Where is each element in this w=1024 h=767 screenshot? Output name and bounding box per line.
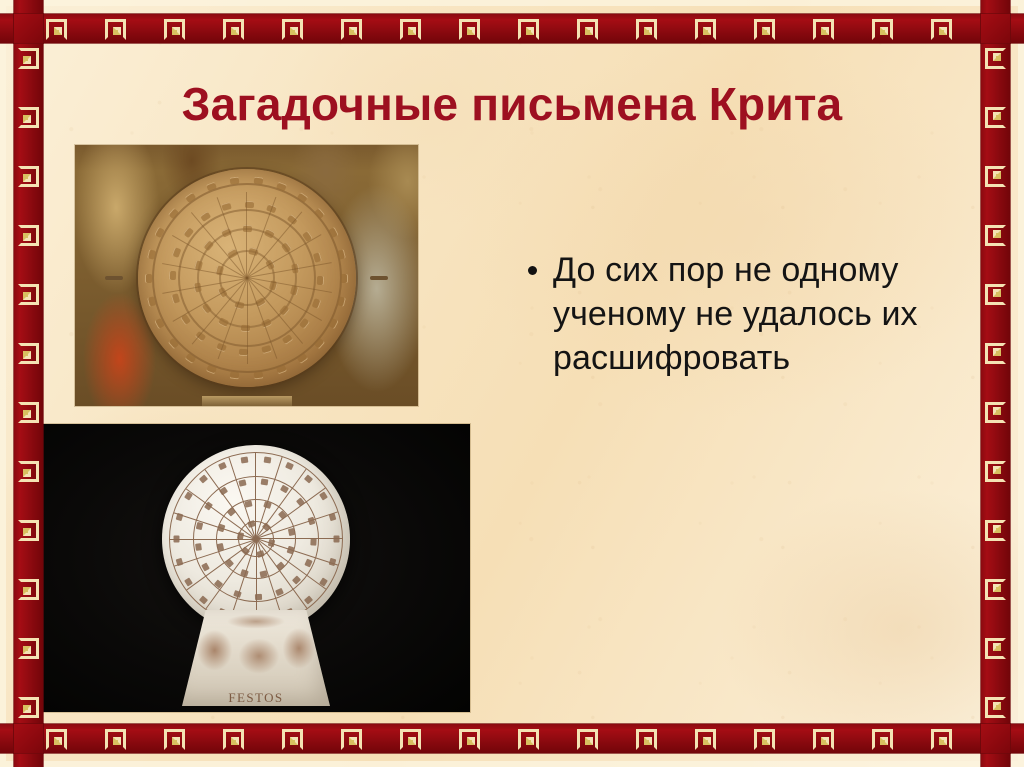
disc-glyph: [168, 337, 179, 348]
disc-glyph: [185, 192, 196, 203]
disc-glyph: [155, 227, 165, 238]
meander-key-icon: [18, 579, 39, 600]
bullet-marker-icon: [528, 266, 537, 275]
disc-divider-line: [247, 277, 322, 321]
disc-glyph: [337, 296, 346, 306]
meander-key-icon: [813, 729, 834, 750]
disc-glyph: [317, 276, 324, 285]
disc-glyph: [296, 353, 307, 364]
border-band-left: [14, 0, 43, 767]
phaistos-disc-museum-photo: [75, 145, 418, 406]
disc-glyph: [203, 240, 214, 251]
disc-glyph: [276, 182, 287, 192]
meander-key-icon: [282, 729, 303, 750]
disc-glyph: [269, 280, 278, 291]
disc-glyph: [147, 296, 156, 306]
meander-key-icon: [18, 461, 39, 482]
disc-mount-pin-left: [105, 276, 123, 280]
disc-glyph: [168, 207, 179, 218]
disc-divider-line: [246, 197, 276, 278]
disc-glyph: [155, 318, 165, 329]
meander-key-icon: [985, 107, 1006, 128]
disc-display-stand: [202, 396, 292, 406]
replica-glyph: [311, 538, 317, 545]
meander-key-icon: [164, 19, 185, 40]
meander-key-icon: [459, 19, 480, 40]
border-band-bottom: [0, 724, 1024, 753]
disc-divider-line: [172, 278, 247, 322]
phaistos-disc-artifact: [138, 169, 356, 387]
disc-divider-line: [190, 212, 246, 279]
disc-glyph: [218, 317, 229, 327]
disc-glyph: [314, 207, 325, 218]
replica-divider-line: [255, 453, 256, 539]
meander-key-icon: [105, 729, 126, 750]
disc-glyph: [290, 285, 299, 295]
disc-glyph: [262, 345, 273, 354]
meander-key-icon: [18, 107, 39, 128]
disc-glyph: [314, 337, 325, 348]
disc-glyph: [253, 371, 263, 379]
disc-glyph: [266, 259, 277, 270]
meander-key-icon: [46, 19, 67, 40]
disc-glyph: [172, 247, 182, 258]
disc-glyph: [328, 227, 338, 238]
disc-glyph: [341, 274, 348, 283]
disc-glyph: [234, 301, 245, 310]
disc-glyph: [264, 228, 275, 238]
meander-key-icon: [164, 729, 185, 750]
disc-glyph: [243, 225, 252, 232]
disc-glyph: [169, 271, 176, 280]
meander-key-icon: [341, 19, 362, 40]
meander-key-icon: [105, 19, 126, 40]
border-band-top: [0, 14, 1024, 43]
meander-key-icon: [985, 225, 1006, 246]
disc-glyph: [276, 365, 287, 375]
disc-glyph: [206, 365, 217, 375]
disc-glyph: [201, 303, 212, 314]
meander-key-icon: [459, 729, 480, 750]
disc-glyph: [299, 318, 310, 329]
stand-inscription-label: FESTOS: [42, 690, 470, 706]
disc-glyph: [171, 293, 180, 304]
meander-key-icon: [223, 19, 244, 40]
phaistos-disc-replica-photo: FESTOS: [42, 424, 470, 712]
meander-key-icon: [18, 225, 39, 246]
meander-key-icon: [931, 729, 952, 750]
meander-key-icon: [754, 19, 775, 40]
disc-glyph: [220, 227, 231, 237]
meander-key-icon: [636, 729, 657, 750]
disc-glyph: [282, 334, 293, 345]
disc-divider-line: [162, 278, 247, 294]
disc-glyph: [255, 297, 266, 308]
meander-key-icon: [931, 19, 952, 40]
meander-key-icon: [695, 19, 716, 40]
meander-key-icon: [577, 729, 598, 750]
meander-key-icon: [985, 166, 1006, 187]
list-item: До сих пор не одному ученому не удалось …: [528, 248, 948, 381]
disc-glyph: [253, 177, 263, 185]
disc-glyph: [147, 249, 156, 259]
meander-key-icon: [341, 729, 362, 750]
disc-glyph: [311, 298, 321, 309]
border-corner-bottom-left: [14, 724, 43, 753]
disc-divider-line: [246, 212, 302, 279]
meander-key-icon: [985, 402, 1006, 423]
replica-glyph: [241, 457, 249, 464]
replica-glyph: [288, 528, 295, 536]
border-corner-bottom-right: [981, 724, 1010, 753]
replica-glyph: [263, 457, 271, 464]
disc-divider-line: [172, 235, 247, 279]
meander-key-icon: [46, 729, 67, 750]
replica-disc: [162, 445, 350, 633]
disc-glyph: [337, 249, 346, 259]
page-title: Загадочные письмена Крита: [60, 80, 964, 128]
meander-key-icon: [18, 402, 39, 423]
disc-glyph: [227, 249, 238, 260]
meander-key-icon: [872, 729, 893, 750]
bullet-list: До сих пор не одному ученому не удалось …: [528, 248, 948, 381]
disc-divider-line: [216, 197, 246, 278]
meander-key-icon: [18, 48, 39, 69]
disc-glyph: [199, 211, 210, 222]
disc-glyph: [261, 319, 272, 329]
meander-key-icon: [872, 19, 893, 40]
replica-glyph: [260, 478, 268, 485]
disc-glyph: [206, 182, 217, 192]
disc-divider-line: [246, 234, 321, 278]
meander-key-icon: [636, 19, 657, 40]
meander-key-icon: [223, 729, 244, 750]
disc-ring-core: [219, 250, 275, 306]
meander-key-icon: [813, 19, 834, 40]
meander-key-icon: [985, 461, 1006, 482]
border-corner-top-right: [981, 14, 1010, 43]
meander-key-icon: [18, 166, 39, 187]
meander-key-icon: [985, 343, 1006, 364]
replica-divider-line: [170, 539, 256, 540]
meander-key-icon: [18, 638, 39, 659]
disc-glyph: [241, 324, 250, 331]
disc-glyph: [281, 242, 292, 253]
meander-key-icon: [400, 729, 421, 750]
meander-key-icon: [985, 579, 1006, 600]
disc-glyph: [249, 247, 260, 256]
meander-key-icon: [18, 697, 39, 718]
disc-divider-line: [247, 278, 248, 364]
disc-glyph: [313, 252, 322, 263]
disc-glyph: [279, 305, 290, 316]
meander-key-icon: [695, 729, 716, 750]
disc-glyph: [145, 274, 152, 283]
meander-key-icon: [985, 48, 1006, 69]
disc-divider-line: [217, 278, 247, 359]
meander-key-icon: [754, 729, 775, 750]
meander-key-icon: [577, 19, 598, 40]
meander-key-icon: [985, 284, 1006, 305]
meander-key-icon: [18, 520, 39, 541]
disc-glyph: [328, 318, 338, 329]
disc-divider-line: [246, 192, 247, 278]
disc-divider-line: [191, 278, 247, 345]
meander-key-icon: [18, 343, 39, 364]
border-corner-top-left: [14, 14, 43, 43]
bullet-item-text: До сих пор не одному ученому не удалось …: [553, 248, 948, 381]
meander-key-icon: [518, 729, 539, 750]
disc-glyph: [230, 177, 240, 185]
replica-divider-line: [256, 538, 342, 539]
border-band-right: [981, 0, 1010, 767]
disc-divider-line: [247, 277, 303, 344]
meander-key-icon: [985, 520, 1006, 541]
disc-glyph: [185, 353, 196, 364]
disc-glyph: [217, 286, 228, 297]
slide: Загадочные письмена Крита FESTOS До сих …: [0, 0, 1024, 767]
replica-glyph: [195, 543, 202, 551]
meander-key-icon: [282, 19, 303, 40]
disc-glyph: [291, 263, 300, 273]
disc-glyph: [296, 192, 307, 203]
disc-glyph: [193, 283, 202, 293]
meander-key-icon: [985, 638, 1006, 659]
meander-key-icon: [18, 284, 39, 305]
meander-key-icon: [400, 19, 421, 40]
disc-glyph: [183, 227, 194, 238]
disc-ring-inner: [197, 228, 297, 328]
disc-glyph: [215, 266, 224, 277]
disc-glyph: [230, 371, 240, 379]
disc-mount-pin-right: [370, 276, 388, 280]
meander-key-icon: [518, 19, 539, 40]
meander-key-icon: [985, 697, 1006, 718]
disc-glyph: [194, 260, 203, 270]
